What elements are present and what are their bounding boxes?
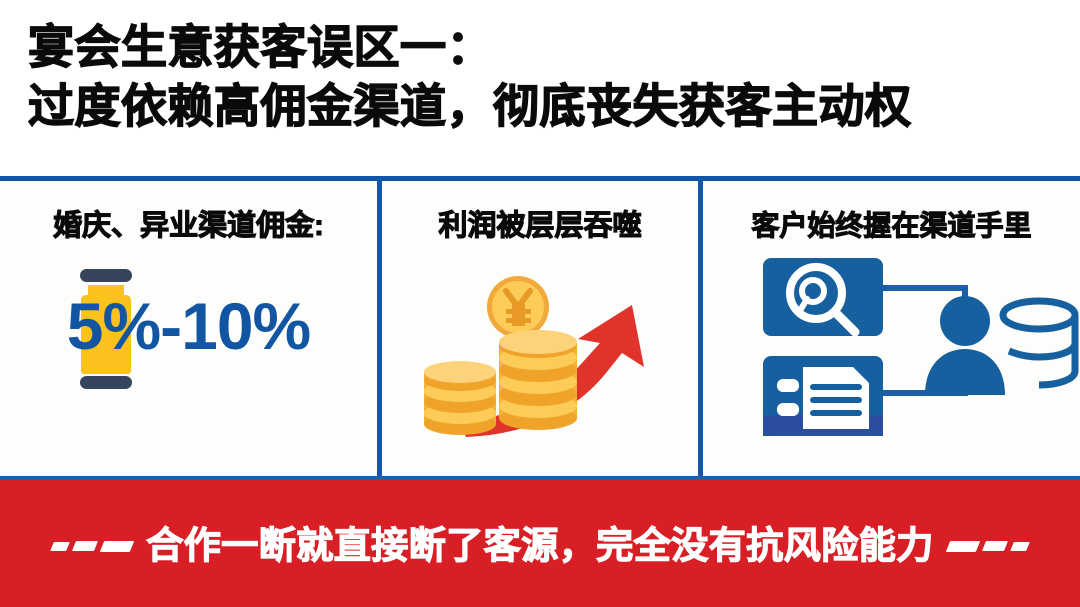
slash-mark (100, 541, 134, 552)
yen-coin (487, 276, 549, 338)
three-column-panel: 婚庆、异业渠道佣金: 5%-10% 利润被层层吞噬 (0, 176, 1080, 479)
banner-inner: 合作一断就直接断了客源，完全没有抗风险能力 (52, 525, 1028, 567)
title-line-2: 过度依赖高佣金渠道，彻底丧失获客主动权 (28, 76, 1080, 136)
coin-stack-tall (499, 330, 577, 430)
column-2-heading: 利润被层层吞噬 (382, 209, 698, 243)
warning-banner: 合作一断就直接断了客源，完全没有抗风险能力 (0, 479, 1080, 607)
slash-mark (946, 541, 980, 552)
commission-rate-value: 5%-10% (0, 291, 377, 361)
coins-arrow-svg (382, 247, 703, 443)
document-card-icon (763, 356, 883, 436)
column-1-body: 5%-10% (0, 243, 377, 443)
slide-title-block: 宴会生意获客误区一： 过度依赖高佣金渠道，彻底丧失获客主动权 (0, 0, 1080, 176)
canister-cap-top (80, 269, 132, 282)
title-line-1: 宴会生意获客误区一： (28, 18, 1080, 76)
percent-figure: 5%-10% (0, 243, 377, 443)
canister-cap-bottom (80, 376, 132, 389)
column-1-heading: 婚庆、异业渠道佣金: (0, 209, 377, 243)
person-icon (925, 296, 1005, 395)
slash-marks-left-icon (52, 541, 132, 552)
database-icon (1003, 301, 1075, 385)
column-3-heading: 客户始终握在渠道手里 (703, 209, 1080, 243)
customer-data-flow-icon (703, 243, 1080, 443)
coin-stack-short (424, 361, 496, 435)
slash-mark (982, 541, 1008, 551)
column-commission-rate: 婚庆、异业渠道佣金: 5%-10% (0, 181, 377, 476)
slash-mark (72, 541, 98, 551)
slide-root: 宴会生意获客误区一： 过度依赖高佣金渠道，彻底丧失获客主动权 婚庆、异业渠道佣金… (0, 0, 1080, 607)
slash-mark (50, 542, 70, 551)
coins-growth-arrow-icon (382, 247, 698, 443)
banner-text: 合作一断就直接断了客源，完全没有抗风险能力 (146, 525, 934, 567)
slash-marks-right-icon (948, 541, 1028, 552)
column-3-body (703, 243, 1080, 443)
slash-mark (1010, 542, 1030, 551)
column-2-body (382, 243, 698, 443)
data-flow-svg (703, 243, 1080, 443)
search-card-icon (763, 258, 883, 336)
column-customer-ownership: 客户始终握在渠道手里 (698, 181, 1080, 476)
column-profit-erosion: 利润被层层吞噬 (377, 181, 698, 476)
